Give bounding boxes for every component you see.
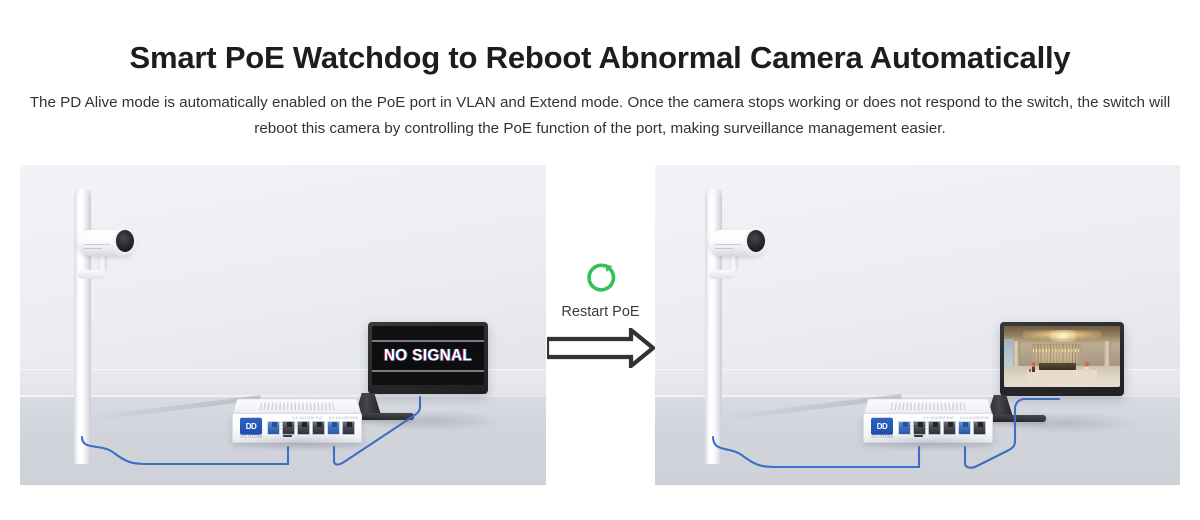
cable-switch-to-monitor bbox=[20, 165, 546, 485]
cable-switch-to-monitor bbox=[655, 165, 1180, 485]
transition-indicator: Restart PoE bbox=[546, 165, 655, 485]
panel-after-state: DD SG-P1008 1-4 10/100M PoE 5-6 10/100/1… bbox=[655, 165, 1180, 485]
page-title: Smart PoE Watchdog to Reboot Abnormal Ca… bbox=[0, 40, 1200, 76]
right-arrow-icon bbox=[547, 328, 655, 368]
restart-circular-arrow-icon bbox=[581, 257, 621, 297]
panel-before-state: NO SIGNAL DD SG-P1008 1-4 10/100M PoE 5-… bbox=[20, 165, 546, 485]
page-description: The PD Alive mode is automatically enabl… bbox=[14, 90, 1186, 142]
poe-watchdog-infographic: Smart PoE Watchdog to Reboot Abnormal Ca… bbox=[0, 0, 1200, 520]
restart-poe-label: Restart PoE bbox=[546, 304, 655, 320]
